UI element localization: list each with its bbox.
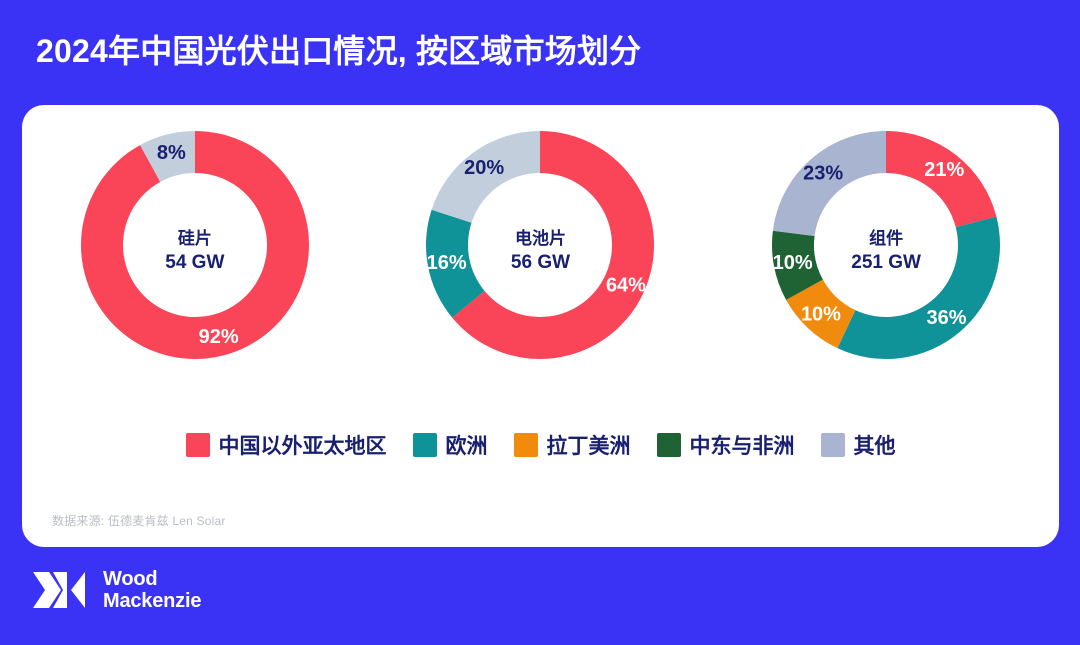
slice-value-label: 16% [427, 252, 467, 274]
slice-value-label: 21% [924, 159, 964, 181]
donut-chart-1: 92%8%硅片54 GW [50, 121, 340, 383]
legend-item-europe[interactable]: 欧洲 [413, 430, 488, 460]
legend-item-apac-ex-china[interactable]: 中国以外亚太地区 [186, 430, 387, 460]
legend-item-label: 其他 [854, 430, 896, 460]
logo-word-line2: Mackenzie [103, 590, 201, 612]
donut-chart-3: 21%36%10%10%23%组件251 GW [741, 121, 1031, 383]
slice-value-label: 20% [465, 157, 505, 179]
slice-value-label: 64% [606, 274, 646, 296]
chart-legend: 中国以外亚太地区欧洲拉丁美洲中东与非洲其他 [22, 430, 1059, 460]
slice-value-label: 36% [927, 307, 967, 329]
chart-card: 92%8%硅片54 GW64%16%20%电池片56 GW21%36%10%10… [22, 105, 1059, 547]
slice-value-label: 92% [198, 326, 238, 348]
slice-value-label: 10% [773, 252, 813, 274]
donut-svg-电池片: 64%16%20% [422, 127, 658, 363]
legend-item-other[interactable]: 其他 [821, 430, 896, 460]
slice-value-label: 23% [803, 163, 843, 185]
source-note: 数据来源: 伍德麦肯兹 Len Solar [52, 512, 226, 529]
donut-chart-row: 92%8%硅片54 GW64%16%20%电池片56 GW21%36%10%10… [22, 121, 1059, 391]
donut-slice[interactable] [838, 217, 1001, 359]
wood-mackenzie-logo-icon [33, 570, 89, 610]
page-title: 2024年中国光伏出口情况, 按区域市场划分 [36, 26, 1016, 72]
infographic-poster: 2024年中国光伏出口情况, 按区域市场划分 92%8%硅片54 GW64%16… [0, 0, 1080, 645]
legend-swatch-icon [514, 433, 538, 457]
donut-svg-硅片: 92%8% [77, 127, 313, 363]
slice-value-label: 8% [157, 142, 186, 164]
legend-item-mea[interactable]: 中东与非洲 [657, 430, 795, 460]
legend-item-latin-america[interactable]: 拉丁美洲 [514, 430, 631, 460]
legend-swatch-icon [186, 433, 210, 457]
donut-svg-组件: 21%36%10%10%23% [768, 127, 1004, 363]
legend-item-label: 欧洲 [446, 430, 488, 460]
legend-swatch-icon [413, 433, 437, 457]
legend-item-label: 拉丁美洲 [547, 430, 631, 460]
legend-item-label: 中东与非洲 [690, 430, 795, 460]
legend-item-label: 中国以外亚太地区 [219, 430, 387, 460]
logo-word-line1: Wood [103, 568, 201, 590]
donut-chart-2: 64%16%20%电池片56 GW [395, 121, 685, 383]
slice-value-label: 10% [801, 303, 841, 325]
legend-swatch-icon [657, 433, 681, 457]
brand-logo: Wood Mackenzie [33, 568, 201, 613]
logo-wordmark: Wood Mackenzie [103, 568, 201, 613]
legend-swatch-icon [821, 433, 845, 457]
